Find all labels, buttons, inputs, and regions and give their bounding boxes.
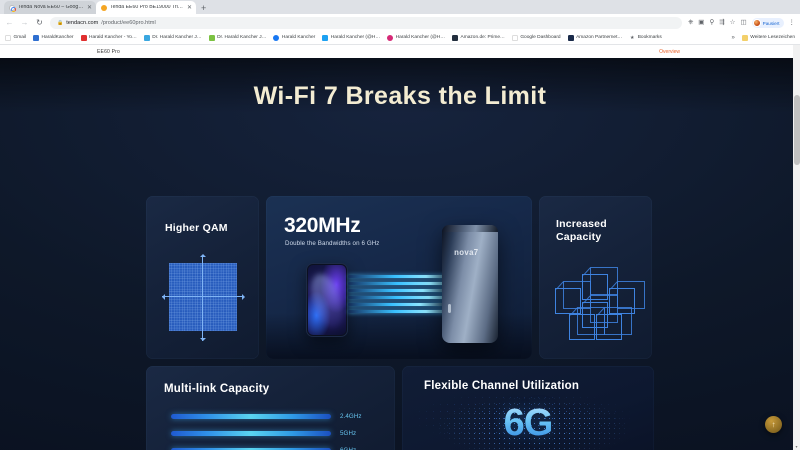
band-bar xyxy=(171,431,331,436)
bookmark-label: Dr. Harald Kancher J… xyxy=(217,36,266,41)
tab-strip: Tenda Nova EE60 – Google Such… ✕ Tenda E… xyxy=(0,0,800,14)
chrome-menu-icon[interactable]: ⋮ xyxy=(789,20,796,27)
site-nav: EE60 Pro Overview xyxy=(0,45,800,58)
feature-row-top: Higher QAM xyxy=(146,196,654,359)
google-icon xyxy=(9,5,15,11)
lock-icon: 🔒 xyxy=(57,20,63,26)
bookmarks-overflow-icon[interactable]: » xyxy=(731,35,734,41)
browser-toolbar: ← → ↻ 🔒 tendacn.com/product/ee60pro.html… xyxy=(0,14,800,32)
bookmark-label: Dr. Harald Kancher J… xyxy=(152,36,201,41)
forward-icon[interactable]: → xyxy=(20,19,29,27)
card-multi-link-capacity[interactable]: Multi-link Capacity 2.4GHz 5GHz xyxy=(146,366,395,450)
axis-vertical xyxy=(202,255,203,341)
url-host: tendacn.com xyxy=(66,20,98,26)
facebook-icon xyxy=(273,35,279,41)
address-bar[interactable]: 🔒 tendacn.com/product/ee60pro.html xyxy=(50,17,682,29)
amazon-icon xyxy=(452,35,458,41)
wireframe-cubes-icon xyxy=(553,262,641,346)
bookmarks-bar: Gmail HaraldKancher Harald Kancher - Yo…… xyxy=(0,32,800,45)
card-title: Increased Capacity xyxy=(556,218,652,244)
sidepanel-icon[interactable]: ◫ xyxy=(740,20,746,27)
band-label: 5GHz xyxy=(340,430,356,437)
card-increased-capacity[interactable]: Increased Capacity xyxy=(539,196,652,359)
url-path: /product/ee60pro.html xyxy=(101,20,155,26)
axis-horizontal xyxy=(162,296,244,297)
bookmark-item[interactable]: Harald Kancher (@H… xyxy=(387,35,445,41)
bookmark-item[interactable]: Harald Kancher (@H… xyxy=(322,35,380,41)
bookmark-label: Bookmarks xyxy=(638,36,662,41)
band-list: 2.4GHz 5GHz 6GHz xyxy=(171,408,376,450)
search-icon[interactable]: ⚲ xyxy=(709,20,714,27)
bookmark-item[interactable]: Amazon.de: Prime… xyxy=(452,35,505,41)
bookmark-item[interactable]: Amazon Partnernet… xyxy=(568,35,623,41)
arrow-left-icon xyxy=(159,294,165,300)
bookmark-item[interactable]: Harald Kancher xyxy=(273,35,315,41)
tenda-icon xyxy=(101,5,107,11)
bookmark-label: Harald Kancher - Yo… xyxy=(89,36,137,41)
card-title: 320MHz xyxy=(284,214,360,238)
card-title: Multi-link Capacity xyxy=(164,383,269,395)
profile-label: Pausiert xyxy=(763,21,780,26)
youtube-icon xyxy=(81,35,87,41)
folder-icon xyxy=(742,35,748,41)
back-icon[interactable]: ← xyxy=(5,19,14,27)
router-illustration: nova7 xyxy=(442,225,498,343)
bookmark-label: Amazon.de: Prime… xyxy=(461,36,505,41)
bookmark-label: HaraldKancher xyxy=(42,36,74,41)
bookmark-item[interactable]: Gmail xyxy=(5,35,26,41)
page-content: EE60 Pro Overview Wi-Fi 7 Breaks the Lim… xyxy=(0,45,800,450)
router-brand-logo: nova7 xyxy=(454,247,478,257)
share-icon[interactable]: ⎈ xyxy=(688,20,693,27)
amazon-partnernet-icon xyxy=(568,35,574,41)
close-icon[interactable]: ✕ xyxy=(87,5,92,11)
bookmark-label: Gmail xyxy=(14,36,27,41)
site-icon xyxy=(144,35,150,41)
band-bar xyxy=(171,414,331,419)
site-nav-item-overview[interactable]: Overview xyxy=(659,49,680,55)
install-icon[interactable]: ▣ xyxy=(698,20,704,27)
new-tab-button[interactable]: + xyxy=(201,3,206,13)
qam-grid xyxy=(169,263,237,331)
tab-title: Tenda EE60 Pro BE19000 Tri-Ban… xyxy=(110,5,184,10)
browser-tab-2[interactable]: Tenda EE60 Pro BE19000 Tri-Ban… ✕ xyxy=(96,1,196,14)
bookmark-item[interactable]: HaraldKancher xyxy=(33,35,74,41)
card-flexible-channel-utilization[interactable]: Flexible Channel Utilization 6G xyxy=(402,366,654,450)
band-row: 2.4GHz xyxy=(171,408,376,425)
arrow-up-icon xyxy=(200,251,206,257)
tab-title: Tenda Nova EE60 – Google Such… xyxy=(18,5,84,10)
reload-icon[interactable]: ↻ xyxy=(35,19,44,27)
qam-constellation-grid-icon xyxy=(166,258,240,338)
card-320mhz[interactable]: 320MHz Double the Bandwidths on 6 GHz xyxy=(266,196,532,359)
close-icon[interactable]: ✕ xyxy=(187,5,192,11)
profile-button[interactable]: Pausiert xyxy=(752,18,784,28)
other-bookmarks-folder[interactable]: Weitere Lesezeichen xyxy=(742,35,795,41)
bookmark-item[interactable]: Dr. Harald Kancher J… xyxy=(144,35,202,41)
bookmark-item[interactable]: ★Bookmarks xyxy=(629,35,662,41)
instagram-icon xyxy=(387,35,393,41)
bookmark-item[interactable]: Harald Kancher - Yo… xyxy=(81,35,137,41)
browser-tab-1[interactable]: Tenda Nova EE60 – Google Such… ✕ xyxy=(4,1,96,14)
bookmark-item[interactable]: Dr. Harald Kancher J… xyxy=(209,35,267,41)
site-nav-brand[interactable]: EE60 Pro xyxy=(97,49,120,55)
translate-icon[interactable]: ⇶ xyxy=(719,20,724,27)
bookmark-label: Google Dashboard xyxy=(520,36,560,41)
scrollbar-thumb[interactable] xyxy=(794,95,800,165)
hero-section: Wi-Fi 7 Breaks the Limit Higher QAM xyxy=(0,58,800,450)
card-title: Flexible Channel Utilization xyxy=(424,380,579,392)
phone-illustration xyxy=(306,263,348,337)
site-icon xyxy=(209,35,215,41)
band-row: 6GHz xyxy=(171,442,376,450)
twitter-icon xyxy=(322,35,328,41)
gmail-icon xyxy=(5,35,11,41)
arrow-up-icon: ↑ xyxy=(772,421,776,429)
band-badge-6g: 6G xyxy=(402,402,654,445)
bookmark-item[interactable]: Google Dashboard xyxy=(512,35,561,41)
card-higher-qam[interactable]: Higher QAM xyxy=(146,196,259,359)
bookmark-label: Harald Kancher (@H… xyxy=(331,36,380,41)
bookmark-label: Harald Kancher (@H… xyxy=(396,36,445,41)
google-icon xyxy=(512,35,518,41)
avatar xyxy=(753,19,761,27)
arrow-down-icon xyxy=(200,338,206,344)
band-label: 2.4GHz xyxy=(340,413,362,420)
arrow-right-icon xyxy=(242,294,248,300)
card-subtitle: Double the Bandwidths on 6 GHz xyxy=(285,240,380,247)
bookmark-label: Harald Kancher xyxy=(282,36,315,41)
toolbar-icons: ⎈ ▣ ⚲ ⇶ ☆ ◫ Pausiert ⋮ xyxy=(688,18,795,28)
feature-grid: Higher QAM xyxy=(146,196,654,450)
phone-screen xyxy=(308,265,346,335)
page-scrollbar[interactable]: ▾ xyxy=(793,45,800,450)
browser-window: Tenda Nova EE60 – Google Such… ✕ Tenda E… xyxy=(0,0,800,450)
bookmark-label: Weitere Lesezeichen xyxy=(750,36,795,41)
bookmark-star-icon[interactable]: ☆ xyxy=(730,20,736,27)
site-icon xyxy=(33,35,39,41)
band-row: 5GHz xyxy=(171,425,376,442)
back-to-top-button[interactable]: ↑ xyxy=(765,416,782,433)
page-title: Wi-Fi 7 Breaks the Limit xyxy=(0,82,800,111)
bookmark-label: Amazon Partnernet… xyxy=(576,36,622,41)
bookmark-star-icon: ★ xyxy=(629,35,635,41)
feature-row-bottom: Multi-link Capacity 2.4GHz 5GHz xyxy=(146,366,654,450)
scrollbar-down-button[interactable]: ▾ xyxy=(793,442,800,450)
card-title: Higher QAM xyxy=(165,222,228,234)
